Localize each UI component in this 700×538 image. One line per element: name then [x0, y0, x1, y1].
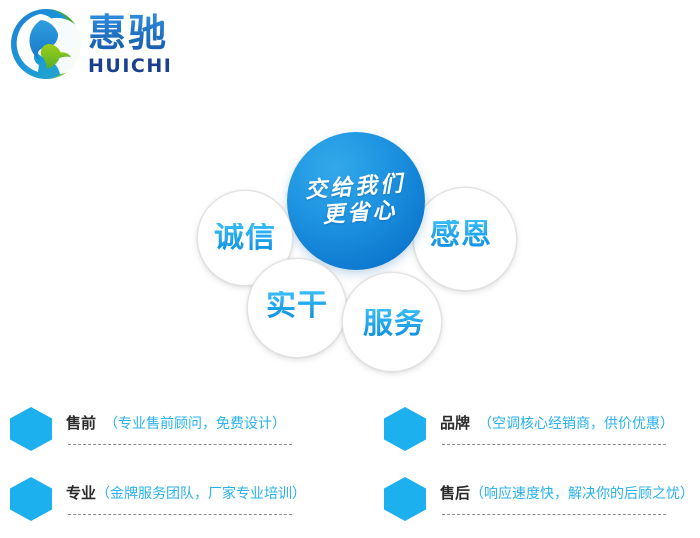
- bubble-diligence-label: 实干: [266, 291, 328, 321]
- hexagon-icon: [382, 476, 428, 522]
- feature-item-professional[interactable]: 专业（金牌服务团队，厂家专业培训）: [4, 470, 344, 536]
- feature-description: （空调核心经销商，供价优惠）: [478, 416, 674, 432]
- bubble-service-label: 服务: [363, 309, 425, 339]
- feature-text-block: 售前（专业售前顾问，免费设计）: [66, 400, 336, 462]
- feature-line: 售后（响应速度快，解决你的后顾之忧）: [440, 482, 694, 505]
- feature-divider: [68, 444, 292, 445]
- feature-title: 专业: [66, 484, 96, 502]
- bubble-diligence[interactable]: 实干: [247, 258, 347, 358]
- feature-divider: [442, 444, 666, 445]
- feature-item-aftersale[interactable]: 售后（响应速度快，解决你的后顾之忧）: [378, 470, 700, 536]
- feature-text-block: 品牌（空调核心经销商，供价优惠）: [440, 400, 700, 462]
- feature-line: 售前（专业售前顾问，免费设计）: [66, 412, 286, 435]
- feature-item-presale[interactable]: 售前（专业售前顾问，免费设计）: [4, 400, 344, 466]
- feature-divider: [442, 514, 666, 515]
- bubble-gratitude-label: 感恩: [430, 220, 492, 250]
- feature-description: （金牌服务团队，厂家专业培训）: [96, 486, 306, 502]
- service-feature-grid: 售前（专业售前顾问，免费设计） 品牌（空调核心经销商，供价优惠）: [0, 396, 700, 538]
- center-slogan-line-2: 更省心: [306, 198, 408, 230]
- company-logo[interactable]: 惠驰 HUICHI: [4, 2, 214, 86]
- hexagon-icon: [8, 476, 54, 522]
- bubble-gratitude[interactable]: 感恩: [413, 187, 517, 291]
- feature-title: 品牌: [440, 414, 470, 432]
- feature-line: 品牌（空调核心经销商，供价优惠）: [440, 412, 674, 435]
- huichi-circular-emblem-icon: [8, 6, 84, 82]
- feature-item-brand[interactable]: 品牌（空调核心经销商，供价优惠）: [378, 400, 700, 466]
- logo-chinese-name: 惠驰: [88, 12, 168, 54]
- feature-divider: [68, 514, 292, 515]
- feature-description: （专业售前顾问，免费设计）: [104, 416, 286, 432]
- feature-description: （响应速度快，解决你的后顾之忧）: [470, 486, 694, 502]
- feature-title: 售后: [440, 484, 470, 502]
- logo-english-name: HUICHI: [88, 55, 172, 77]
- values-bubble-diagram: 感恩 交给我们 更省心 诚信 实干 服务: [180, 120, 540, 370]
- bubble-service[interactable]: 服务: [342, 272, 442, 372]
- bubble-center-slogan[interactable]: 交给我们 更省心: [287, 132, 425, 270]
- feature-title: 售前: [66, 414, 96, 432]
- hexagon-icon: [8, 406, 54, 452]
- logo-wordmark: 惠驰 HUICHI: [88, 12, 208, 76]
- center-slogan-text: 交给我们 更省心: [304, 172, 407, 230]
- feature-line: 专业（金牌服务团队，厂家专业培训）: [66, 482, 306, 505]
- hexagon-icon: [382, 406, 428, 452]
- feature-text-block: 专业（金牌服务团队，厂家专业培训）: [66, 470, 336, 532]
- bubble-integrity-label: 诚信: [214, 223, 276, 253]
- page-root: 惠驰 HUICHI 感恩 交给我们 更省心 诚信 实干 服务: [0, 0, 700, 538]
- feature-text-block: 售后（响应速度快，解决你的后顾之忧）: [440, 470, 700, 532]
